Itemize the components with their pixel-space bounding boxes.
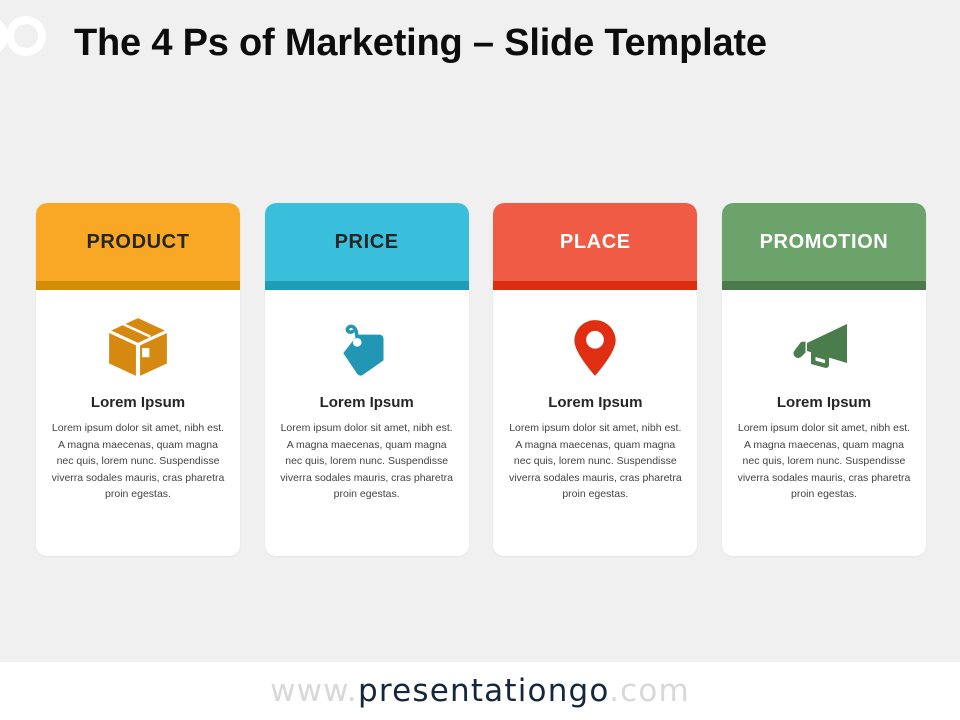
card-description: Lorem ipsum dolor sit amet, nibh est. A …: [507, 420, 683, 503]
map-pin-icon: [562, 312, 628, 384]
card-description: Lorem ipsum dolor sit amet, nibh est. A …: [736, 420, 912, 503]
card-price[interactable]: PRICE Lorem Ipsum Lorem ipsum dolor sit …: [265, 203, 469, 556]
card-product[interactable]: PRODUCT: [36, 203, 240, 556]
site-url[interactable]: www.presentationgo.com: [270, 673, 690, 709]
card-promotion[interactable]: PROMOTION Lorem Ipsum Lorem ipsum dolor: [722, 203, 926, 556]
card-header-label: PRODUCT: [86, 231, 189, 254]
card-subtitle: Lorem Ipsum: [91, 394, 185, 411]
box-icon: [105, 312, 171, 384]
card-body-product: Lorem Ipsum Lorem ipsum dolor sit amet, …: [36, 290, 240, 556]
card-subtitle: Lorem Ipsum: [777, 394, 871, 411]
card-header-label: PRICE: [335, 231, 399, 254]
card-body-place: Lorem Ipsum Lorem ipsum dolor sit amet, …: [493, 290, 697, 556]
footer-bar: www.presentationgo.com: [0, 662, 960, 720]
card-body-price: Lorem Ipsum Lorem ipsum dolor sit amet, …: [265, 290, 469, 556]
card-accent-stripe: [36, 281, 240, 290]
page-title: The 4 Ps of Marketing – Slide Template: [74, 20, 834, 66]
four-ps-card-row: PRODUCT: [36, 203, 926, 556]
card-description: Lorem ipsum dolor sit amet, nibh est. A …: [279, 420, 455, 503]
card-header-product: PRODUCT: [36, 203, 240, 281]
card-header-place: PLACE: [493, 203, 697, 281]
card-header-label: PROMOTION: [760, 231, 889, 254]
card-header-price: PRICE: [265, 203, 469, 281]
card-subtitle: Lorem Ipsum: [548, 394, 642, 411]
card-body-promotion: Lorem Ipsum Lorem ipsum dolor sit amet, …: [722, 290, 926, 556]
card-place[interactable]: PLACE Lorem Ipsum Lorem ipsum dolor sit …: [493, 203, 697, 556]
price-tag-icon: [334, 312, 400, 384]
url-suffix: .com: [609, 673, 690, 709]
card-accent-stripe: [493, 281, 697, 290]
card-accent-stripe: [265, 281, 469, 290]
slide-canvas: The 4 Ps of Marketing – Slide Template P…: [0, 0, 960, 662]
url-brand: presentationgo: [358, 673, 609, 709]
url-prefix: www.: [270, 673, 358, 709]
card-subtitle: Lorem Ipsum: [320, 394, 414, 411]
megaphone-icon: [789, 312, 859, 384]
card-header-label: PLACE: [560, 231, 631, 254]
presentationgo-logo-watermark-icon: [0, 8, 56, 64]
card-accent-stripe: [722, 281, 926, 290]
card-header-promotion: PROMOTION: [722, 203, 926, 281]
card-description: Lorem ipsum dolor sit amet, nibh est. A …: [50, 420, 226, 503]
